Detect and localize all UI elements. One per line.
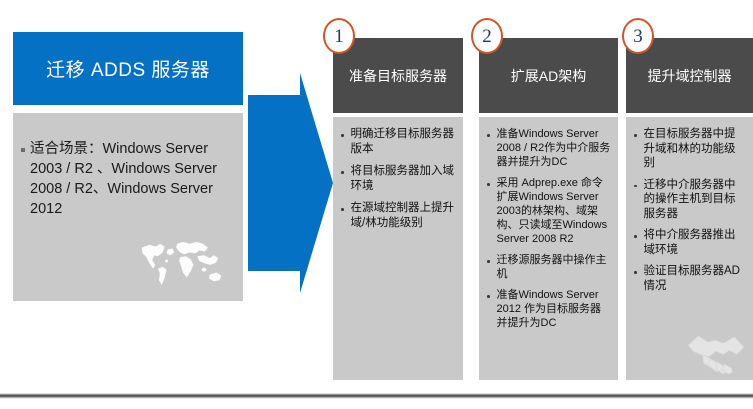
list-item: 准备Windows Server 2012 作为目标服务器并提升为DC [483,288,611,330]
step-2-body: 准备Windows Server 2008 / R2作为中介服务器并提升为DC … [479,117,618,380]
bullet-dot-icon [634,271,637,274]
left-panel-bullet-text: 适合场景：Windows Server 2003 / R2 、Windows S… [30,139,235,219]
left-panel-body: 适合场景：Windows Server 2003 / R2 、Windows S… [13,113,243,301]
step-3-number-badge: 3 [622,18,654,54]
bullet-dot-icon [487,295,490,298]
world-map-icon [133,233,229,291]
step-3-bullet-3: 将中介服务器推出域环境 [644,228,747,257]
bullet-dot-icon [634,134,637,137]
step-3-bullet-2: 迁移中介服务器中的操作主机到目标服务器 [644,178,747,222]
step-1-body: 明确迁移目标服务器版本 将目标服务器加入域环境 在源域控制器上提升域/林功能级别 [333,117,463,380]
step-1-number-badge: 1 [323,18,355,54]
step-2-number-badge: 2 [471,18,503,54]
step-3-bullet-4: 验证目标服务器AD情况 [644,264,747,293]
bullet-dot-icon [341,208,344,211]
bullet-dot-icon [341,134,344,137]
right-arrow-icon [248,73,333,293]
step-2-bullet-1: 准备Windows Server 2008 / R2作为中介服务器并提升为DC [497,127,612,169]
handshake-icon [685,330,747,378]
step-2-header: 扩展AD架构 [479,38,618,113]
step-3-body: 在目标服务器中提升域和林的功能级别 迁移中介服务器中的操作主机到目标服务器 将中… [626,117,753,380]
left-panel-title-bar: 迁移 ADDS 服务器 [13,32,243,105]
step-column-3: 提升域控制器 在目标服务器中提升域和林的功能级别 迁移中介服务器中的操作主机到目… [626,38,753,380]
bullet-dot-icon [487,183,490,186]
list-item: 在目标服务器中提升域和林的功能级别 [630,127,746,171]
step-column-2: 扩展AD架构 准备Windows Server 2008 / R2作为中介服务器… [479,38,618,380]
list-item: 将目标服务器加入域环境 [337,164,456,194]
list-item: 验证目标服务器AD情况 [630,264,746,293]
list-item: 将中介服务器推出域环境 [630,228,746,257]
list-item: 准备Windows Server 2008 / R2作为中介服务器并提升为DC [483,127,611,169]
list-item: 迁移中介服务器中的操作主机到目标服务器 [630,178,746,222]
step-1-number: 1 [334,27,344,46]
bullet-dot-icon [341,171,344,174]
step-3-header-text: 提升域控制器 [648,67,732,85]
step-2-bullet-2: 采用 Adprep.exe 命令扩展Windows Server 2003的林架… [497,176,612,246]
step-3-number: 3 [633,27,643,46]
bullet-dot-icon [634,235,637,238]
bullet-dot-icon [634,185,637,188]
bottom-divider [0,393,753,399]
left-summary-panel: 迁移 ADDS 服务器 适合场景：Windows Server 2003 / R… [13,32,243,301]
step-1-header: 准备目标服务器 [333,38,463,113]
step-1-bullet-1: 明确迁移目标服务器版本 [351,127,457,157]
step-2-number: 2 [482,27,492,46]
step-3-bullet-1: 在目标服务器中提升域和林的功能级别 [644,127,747,171]
list-item: 明确迁移目标服务器版本 [337,127,456,157]
left-panel-title: 迁移 ADDS 服务器 [46,55,210,82]
square-bullet-icon [21,148,25,152]
bullet-dot-icon [487,260,490,263]
step-1-header-text: 准备目标服务器 [349,67,447,85]
step-2-bullet-3: 迁移源服务器中操作主机 [497,253,612,281]
step-column-1: 准备目标服务器 明确迁移目标服务器版本 将目标服务器加入域环境 在源域控制器上提… [333,38,463,380]
slide-canvas: 迁移 ADDS 服务器 适合场景：Windows Server 2003 / R… [0,0,753,409]
list-item: 采用 Adprep.exe 命令扩展Windows Server 2003的林架… [483,176,611,246]
list-item: 在源域控制器上提升域/林功能级别 [337,201,456,231]
step-2-header-text: 扩展AD架构 [511,67,586,85]
step-1-bullet-3: 在源域控制器上提升域/林功能级别 [351,201,457,231]
step-2-bullet-4: 准备Windows Server 2012 作为目标服务器并提升为DC [497,288,612,330]
bullet-dot-icon [487,134,490,137]
step-1-bullet-2: 将目标服务器加入域环境 [351,164,457,194]
left-panel-bullet-item: 适合场景：Windows Server 2003 / R2 、Windows S… [21,139,235,219]
list-item: 迁移源服务器中操作主机 [483,253,611,281]
